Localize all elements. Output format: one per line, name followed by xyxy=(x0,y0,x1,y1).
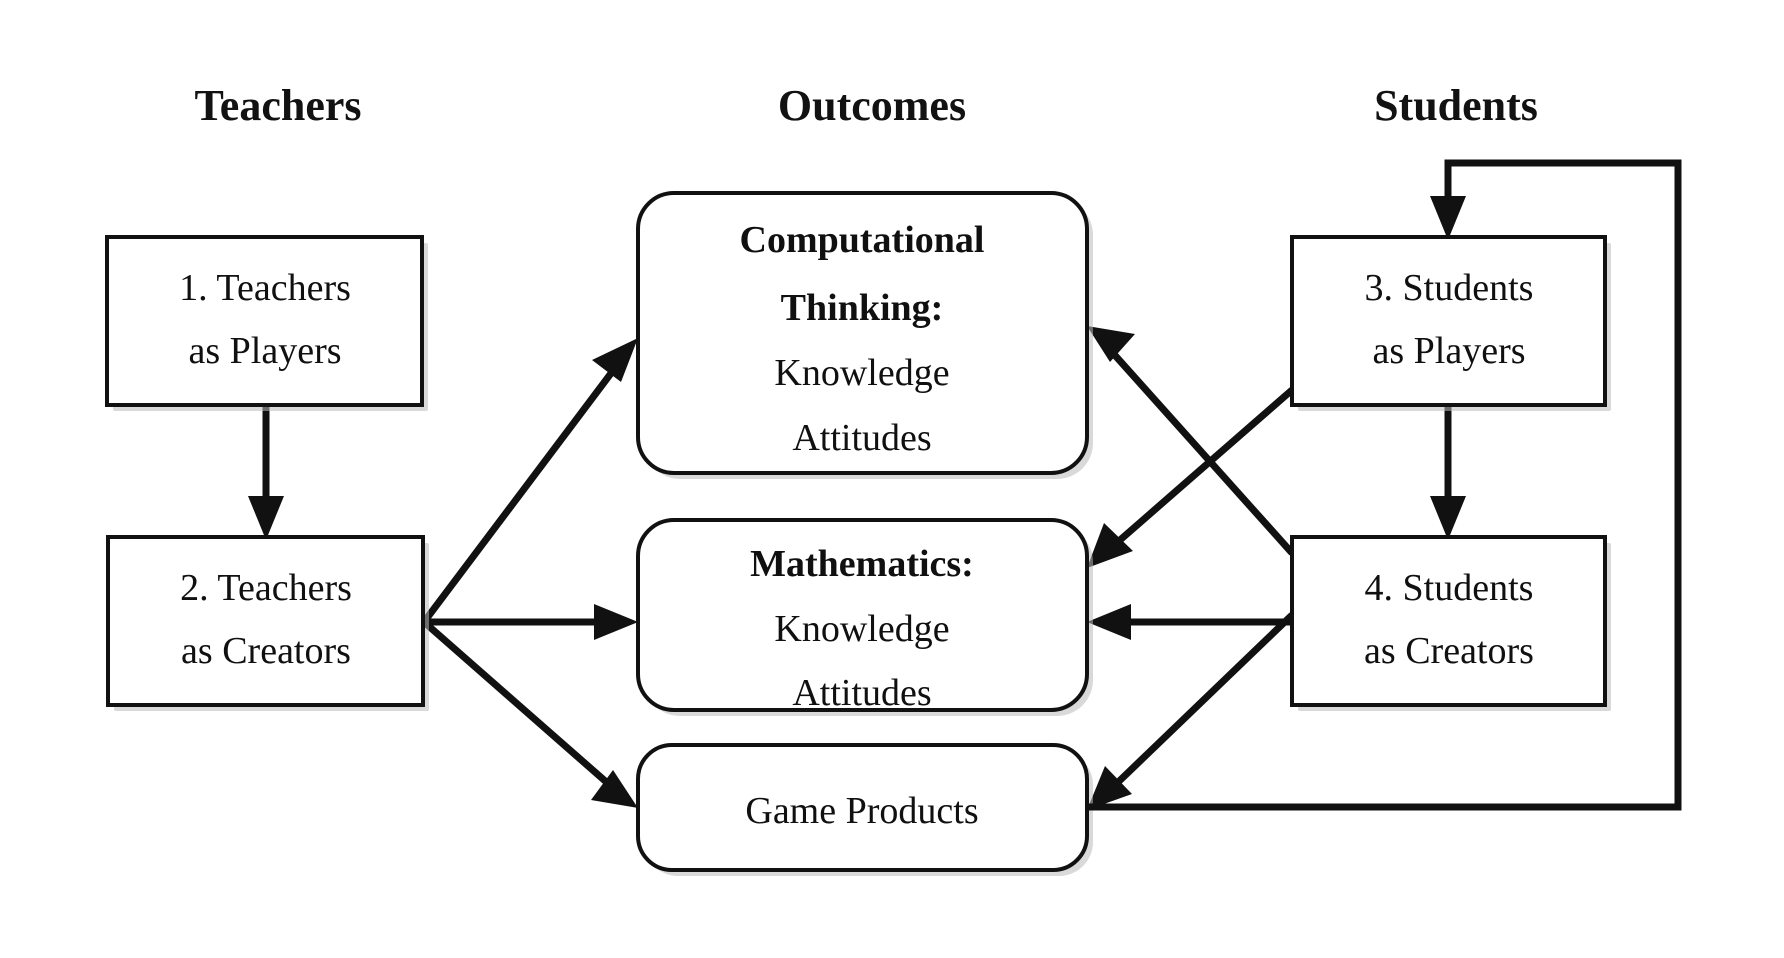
edge-students-creators-to-game-products xyxy=(1087,615,1292,810)
node-students-as-players-line-2: as Players xyxy=(1372,330,1525,372)
node-game-products[interactable]: Game Products xyxy=(638,745,1093,876)
arrow-head-into-students-creators xyxy=(1430,496,1466,540)
flow-diagram: Teachers Outcomes Students xyxy=(0,0,1784,958)
node-computational-thinking-line-1: Knowledge xyxy=(774,352,949,394)
column-header-teachers: Teachers xyxy=(194,81,361,130)
arrow-head-into-computational-thinking-left xyxy=(592,338,638,382)
arrow-head-into-mathematics-right xyxy=(1087,523,1133,568)
node-mathematics-line-2: Attitudes xyxy=(792,672,931,714)
arrow-head-into-computational-thinking-right xyxy=(1087,326,1135,362)
node-students-as-creators-line-2: as Creators xyxy=(1364,630,1534,672)
arrow-head-into-mathematics-right-horizontal xyxy=(1087,604,1131,640)
arrow-head-into-mathematics-left xyxy=(594,604,638,640)
node-computational-thinking-heading-1: Computational xyxy=(740,219,985,261)
edge-teachers-creators-to-game-products xyxy=(424,622,638,808)
node-teachers-as-creators[interactable]: 2. Teachers as Creators xyxy=(108,537,429,711)
node-students-as-players-line-1: 3. Students xyxy=(1365,267,1534,309)
node-computational-thinking[interactable]: Computational Thinking: Knowledge Attitu… xyxy=(638,193,1093,479)
node-students-as-creators-line-1: 4. Students xyxy=(1365,567,1534,609)
node-teachers-as-players-line-1: 1. Teachers xyxy=(179,267,351,309)
node-teachers-as-creators-line-2: as Creators xyxy=(181,630,351,672)
node-mathematics-line-1: Knowledge xyxy=(774,608,949,650)
edge-students-creators-to-mathematics xyxy=(1087,604,1292,640)
node-mathematics[interactable]: Mathematics: Knowledge Attitudes xyxy=(638,520,1093,716)
arrow-head-into-students-players xyxy=(1430,196,1466,240)
edge-teachers-players-to-teachers-creators xyxy=(248,405,284,540)
node-computational-thinking-heading-2: Thinking: xyxy=(781,287,944,329)
diagram-canvas: Teachers Outcomes Students xyxy=(0,0,1784,958)
node-teachers-as-players-line-2: as Players xyxy=(188,330,341,372)
node-students-as-players[interactable]: 3. Students as Players xyxy=(1292,237,1611,411)
edge-students-creators-to-computational-thinking xyxy=(1087,326,1292,553)
edge-students-players-to-mathematics xyxy=(1087,390,1292,568)
edge-students-players-to-students-creators xyxy=(1430,405,1466,540)
edge-teachers-creators-to-computational-thinking xyxy=(424,338,638,622)
node-game-products-label: Game Products xyxy=(745,790,978,832)
node-students-as-creators[interactable]: 4. Students as Creators xyxy=(1292,537,1611,711)
node-computational-thinking-line-2: Attitudes xyxy=(792,417,931,459)
edge-teachers-creators-to-mathematics xyxy=(424,604,638,640)
arrow-head-into-teachers-creators xyxy=(248,496,284,540)
node-teachers-as-players[interactable]: 1. Teachers as Players xyxy=(107,237,428,411)
column-header-students: Students xyxy=(1374,81,1538,130)
node-teachers-as-creators-line-1: 2. Teachers xyxy=(180,567,352,609)
column-header-outcomes: Outcomes xyxy=(778,81,966,130)
node-mathematics-heading-1: Mathematics: xyxy=(750,543,974,585)
